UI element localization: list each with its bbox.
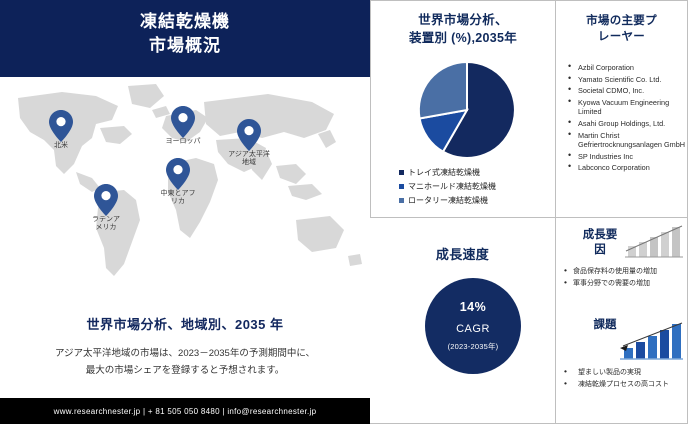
cagr-circle: 14% CAGR (2023-2035年) bbox=[425, 278, 521, 374]
map-pin-north-america[interactable]: 北米 bbox=[48, 109, 74, 143]
list-item: Martin Christ Gefriertrocknungsanlagen G… bbox=[564, 131, 688, 150]
infographic-page: 凍結乾燥機 市場概況 bbox=[0, 0, 688, 424]
growth-drivers-list: 食品保存料の使用量の増加 軍事分野での需要の増加 bbox=[560, 267, 688, 290]
map-pin-label: ヨーロッパ bbox=[165, 138, 201, 146]
cagr-period: (2023-2035年) bbox=[448, 341, 499, 352]
map-pin-label: ラテンアメリカ bbox=[91, 216, 121, 232]
list-item: Azbil Corporation bbox=[564, 63, 688, 73]
market-analysis-title-line1: 世界市場分析、 bbox=[418, 13, 508, 27]
legend-label: トレイ式凍結乾燥機 bbox=[408, 167, 480, 178]
growth-drivers-title-line1: 成長要 bbox=[583, 229, 618, 241]
drivers-challenges-card: 成長要 因 食品保存料の使用量の増加 軍事分野での需要の増加 課題 bbox=[556, 218, 688, 424]
key-players-title-line1: 市場の主要プ bbox=[586, 15, 657, 27]
map-pin-latin-america[interactable]: ラテンアメリカ bbox=[93, 183, 119, 217]
location-pin-icon bbox=[170, 105, 196, 139]
list-item: 望ましい製品の実現 bbox=[560, 368, 688, 378]
list-item: 食品保存料の使用量の増加 bbox=[560, 267, 688, 277]
challenges-trend-chart-icon bbox=[616, 322, 684, 362]
location-pin-icon bbox=[48, 109, 74, 143]
market-analysis-title: 世界市場分析、 装置別 (%),2035年 bbox=[371, 1, 555, 47]
footer-contact-text: www.researchnester.jp | + 81 505 050 848… bbox=[54, 407, 317, 416]
key-players-list: Azbil Corporation Yamato Scientific Co. … bbox=[564, 63, 688, 175]
pie-chart bbox=[415, 58, 519, 162]
pie-chart-svg bbox=[415, 58, 519, 162]
legend-item: マニホールド凍結乾燥機 bbox=[399, 181, 496, 192]
bar-chart-up-icon bbox=[622, 224, 684, 260]
key-players-card: 市場の主要プ レーヤー Azbil Corporation Yamato Sci… bbox=[556, 0, 688, 218]
key-players-title: 市場の主要プ レーヤー bbox=[556, 1, 687, 45]
page-title-line2: 市場概況 bbox=[0, 34, 370, 58]
legend-swatch-icon bbox=[399, 184, 404, 189]
region-description-line1: アジア太平洋地域の市場は、2023－2035年の予測期間中に、 bbox=[55, 348, 315, 359]
location-pin-icon bbox=[93, 183, 119, 217]
footer-band: www.researchnester.jp | + 81 505 050 848… bbox=[0, 398, 370, 424]
location-pin-icon bbox=[236, 118, 262, 152]
page-title-line1: 凍結乾燥機 bbox=[140, 12, 230, 31]
list-item: Asahi Group Holdings, Ltd. bbox=[564, 119, 688, 129]
market-analysis-title-line2: 装置別 (%),2035年 bbox=[409, 31, 517, 45]
map-pin-asia-pacific[interactable]: アジア太平洋地域 bbox=[236, 118, 262, 152]
right-panel: 世界市場分析、 装置別 (%),2035年 トレイ式凍結乾燥機 bbox=[370, 0, 688, 424]
map-pin-europe[interactable]: ヨーロッパ bbox=[170, 105, 196, 139]
growth-rate-title: 成長速度 bbox=[370, 218, 555, 263]
growth-trend-chart-icon bbox=[622, 224, 684, 260]
list-item: 凍結乾燥プロセスの高コスト bbox=[560, 380, 688, 390]
map-pin-label: 中東とアフリカ bbox=[159, 190, 197, 206]
cagr-percent: 14% bbox=[460, 300, 487, 314]
map-pin-label: アジア太平洋地域 bbox=[228, 151, 270, 167]
legend-label: マニホールド凍結乾燥機 bbox=[408, 181, 496, 192]
list-item: 軍事分野での需要の増加 bbox=[560, 279, 688, 289]
left-panel: 凍結乾燥機 市場概況 bbox=[0, 0, 370, 424]
list-item: Societal CDMO, Inc. bbox=[564, 86, 688, 96]
bar-chart-up-icon bbox=[616, 322, 684, 362]
page-title: 凍結乾燥機 市場概況 bbox=[0, 10, 370, 58]
growth-drivers-title-line2: 因 bbox=[594, 244, 606, 256]
legend-label: ロータリー凍結乾燥機 bbox=[408, 195, 488, 206]
legend-swatch-icon bbox=[399, 170, 404, 175]
growth-rate-card: 成長速度 14% CAGR (2023-2035年) bbox=[370, 218, 556, 424]
key-players-title-line2: レーヤー bbox=[598, 31, 645, 43]
world-map: 北米 ラテンアメリカ ヨーロッパ bbox=[0, 80, 370, 310]
legend-swatch-icon bbox=[399, 198, 404, 203]
map-pin-label: 北米 bbox=[54, 142, 68, 150]
region-description: アジア太平洋地域の市場は、2023－2035年の予測期間中に、 最大の市場シェア… bbox=[32, 345, 338, 379]
cagr-label: CAGR bbox=[456, 323, 490, 335]
challenges-list: 望ましい製品の実現 凍結乾燥プロセスの高コスト bbox=[560, 368, 688, 391]
region-heading: 世界市場分析、地域別、2035 年 bbox=[0, 314, 370, 333]
legend-item: ロータリー凍結乾燥機 bbox=[399, 195, 496, 206]
list-item: Kyowa Vacuum Engineering Limited bbox=[564, 98, 688, 117]
pie-chart-legend: トレイ式凍結乾燥機 マニホールド凍結乾燥機 ロータリー凍結乾燥機 bbox=[399, 167, 496, 209]
region-description-line2: 最大の市場シェアを登録すると予想されます。 bbox=[32, 362, 338, 379]
market-analysis-card: 世界市場分析、 装置別 (%),2035年 トレイ式凍結乾燥機 bbox=[370, 0, 556, 218]
legend-item: トレイ式凍結乾燥機 bbox=[399, 167, 496, 178]
list-item: Labconco Corporation bbox=[564, 163, 688, 173]
map-pin-middle-east-africa[interactable]: 中東とアフリカ bbox=[165, 157, 191, 191]
list-item: SP Industries Inc bbox=[564, 152, 688, 162]
location-pin-icon bbox=[165, 157, 191, 191]
list-item: Yamato Scientific Co. Ltd. bbox=[564, 75, 688, 85]
